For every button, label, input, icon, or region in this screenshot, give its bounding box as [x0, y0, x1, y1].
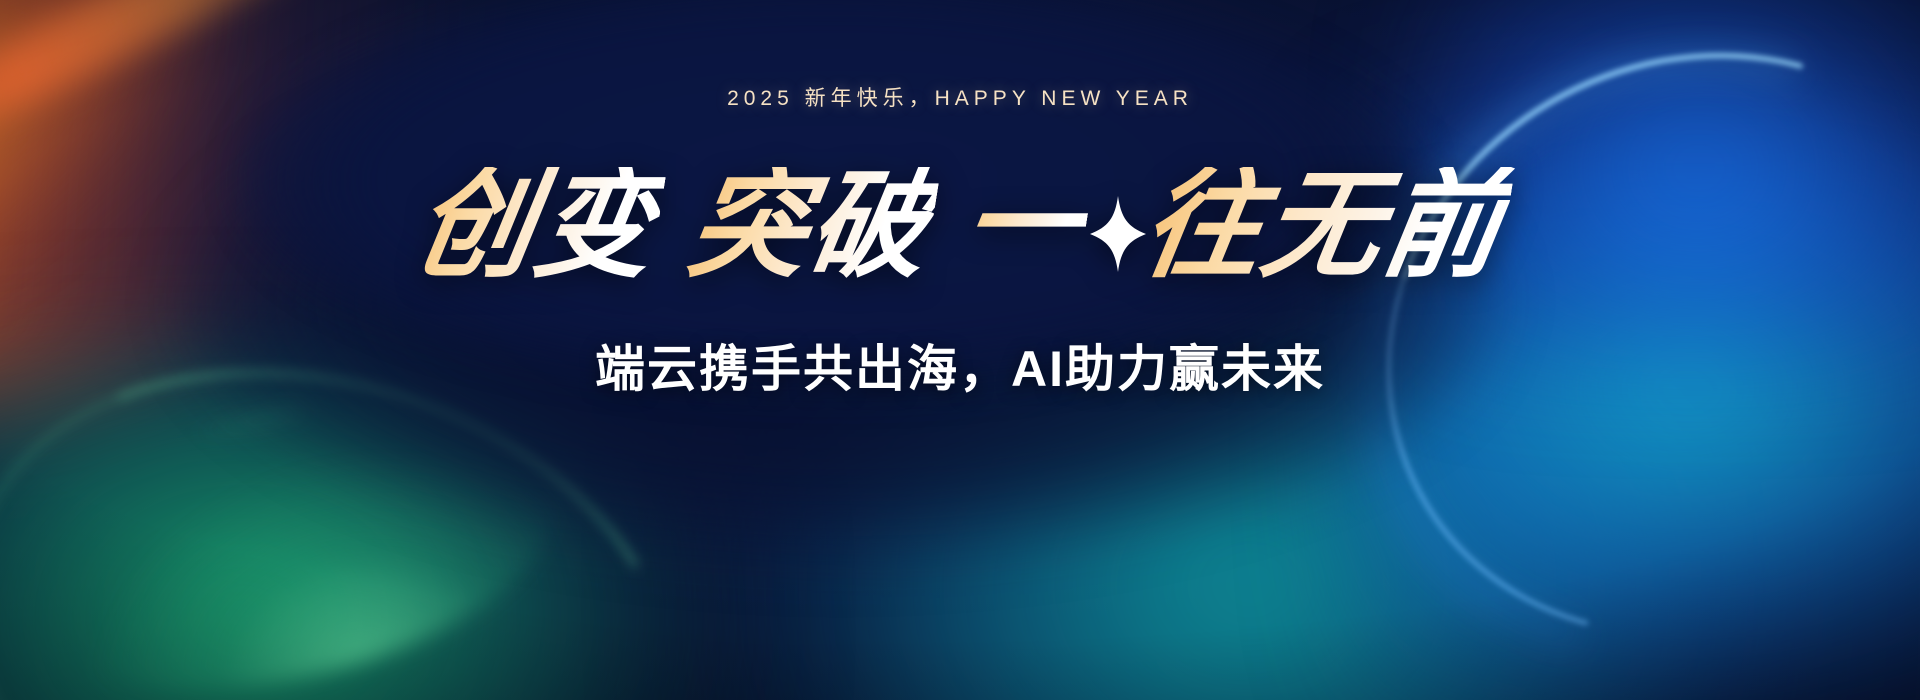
headline-segment-yi: 一	[953, 167, 1096, 285]
headline-segment-chuangbian: 创变	[405, 167, 668, 285]
banner-content: 2025 新年快乐，HAPPY NEW YEAR 创变 突破 一 往无前 端云携…	[0, 0, 1920, 700]
new-year-promo-banner: 2025 新年快乐，HAPPY NEW YEAR 创变 突破 一 往无前 端云携…	[0, 0, 1920, 700]
banner-headline: 创变 突破 一 往无前	[414, 167, 1506, 285]
banner-eyebrow-text: 2025 新年快乐，HAPPY NEW YEAR	[727, 82, 1193, 112]
banner-subtitle-text: 端云携手共出海，AI助力赢未来	[595, 329, 1325, 401]
headline-segment-wangwuqian: 往无前	[1133, 167, 1516, 285]
headline-segment-tupo: 突破	[679, 167, 942, 285]
